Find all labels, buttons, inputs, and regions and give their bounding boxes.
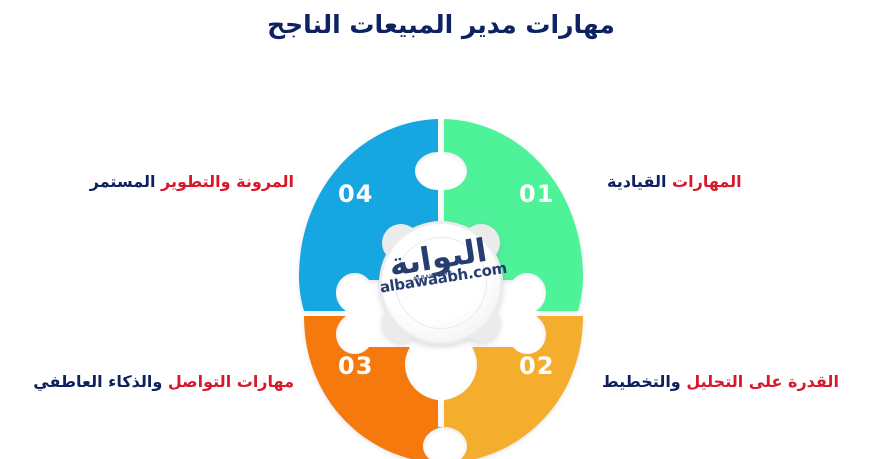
segment-label-04-lead: المرونة والتطوير [161, 172, 294, 191]
segment-label-02: القدرة على التحليل والتخطيط [602, 372, 839, 392]
segment-label-02-tail: والتخطيط [602, 372, 681, 391]
segment-label-03-lead: مهارات التواصل [168, 372, 294, 391]
segment-number-02: 02 [519, 352, 554, 380]
segment-number-04: 04 [338, 180, 373, 208]
center-logo-hub: البوابة albawaabh.com ALBAWAABH [371, 213, 511, 353]
segment-label-01-lead: المهارات [672, 172, 742, 191]
segment-label-03: مهارات التواصل والذكاء العاطفي [18, 372, 294, 392]
segment-label-04-tail: المستمر [90, 172, 156, 191]
hub-inner-ring [395, 237, 487, 329]
segment-number-03: 03 [338, 352, 373, 380]
segment-label-04: المرونة والتطوير المستمر [64, 172, 294, 192]
circular-puzzle-diagram: 01 02 03 04 البوابة albawaabh.com ALBAWA… [281, 105, 601, 450]
page-title: مهارات مدير المبيعات الناجح [0, 10, 882, 39]
segment-label-03-tail: والذكاء العاطفي [33, 372, 162, 391]
segment-number-01: 01 [519, 180, 554, 208]
segment-label-01-tail: القيادية [607, 172, 666, 191]
segment-label-01: المهارات القيادية [607, 172, 742, 192]
segment-label-02-lead: القدرة على التحليل [686, 372, 839, 391]
